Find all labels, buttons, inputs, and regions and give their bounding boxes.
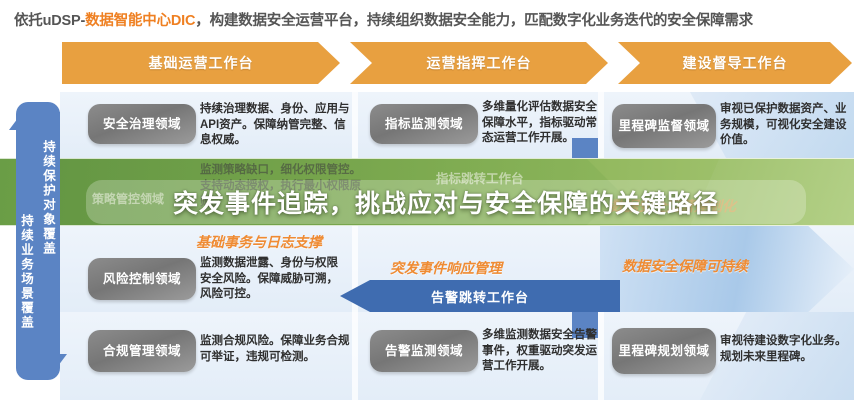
callout-sustainable-assurance: 数据安全保障可持续 bbox=[622, 256, 748, 276]
domain-card-alert-monitoring[interactable]: 告警监测领域 bbox=[370, 330, 478, 372]
callout-incident-response: 突发事件响应管理 bbox=[390, 258, 502, 278]
arrow-head-up-icon bbox=[9, 106, 45, 130]
headline-accent: 数据智能中心DIC bbox=[85, 9, 195, 30]
arrow-label-business-coverage: 持续业务场景覆盖 bbox=[17, 214, 36, 330]
domain-card-milestone-planning[interactable]: 里程碑规划领域 bbox=[612, 328, 716, 374]
coverage-arrows: 持续保护对象覆盖 持续业务场景覆盖 bbox=[4, 96, 60, 400]
headline-prefix: 依托uDSP- bbox=[14, 9, 85, 30]
domain-card-compliance-management[interactable]: 合规管理领域 bbox=[88, 330, 196, 372]
overlay-title: 突发事件追踪，挑战应对与安全保障的关键路径 bbox=[86, 180, 806, 224]
alert-jump-arrow[interactable]: 告警跳转工作台 bbox=[340, 280, 620, 312]
domain-card-milestone-supervision[interactable]: 里程碑监督领域 bbox=[612, 104, 716, 148]
page-title: 依托uDSP-数据智能中心DIC，构建数据安全运营平台，持续组织数据安全能力，匹… bbox=[14, 6, 844, 32]
divider-bot-1 bbox=[352, 312, 358, 400]
arrow-label-protection-coverage: 持续保护对象覆盖 bbox=[39, 140, 58, 256]
domain-desc-risk-control: 监测数据泄露、身份与权限安全风险。保障威胁可溯，风险可控。 bbox=[200, 256, 348, 303]
arrow-head-down-icon bbox=[31, 354, 67, 378]
domain-desc-metric-monitoring: 多维量化评估数据安全保障水平，指标驱动常态运营工作开展。 bbox=[482, 100, 600, 147]
green-band-bottom-edge bbox=[0, 225, 854, 226]
domain-card-compliance-label: 合规管理领域 bbox=[103, 343, 181, 359]
workbench-chevron-1[interactable]: 基础运营工作台 bbox=[62, 42, 340, 84]
domain-card-risk-control[interactable]: 风险控制领域 bbox=[88, 258, 196, 300]
domain-desc-milestone-supervision: 审视已保护数据资产、业务规模，可视化安全建设价值。 bbox=[720, 102, 848, 149]
domain-card-metric-monitoring[interactable]: 指标监测领域 bbox=[370, 104, 478, 144]
domain-desc-milestone-planning: 审视待建设数字化业务。规划未来里程碑。 bbox=[720, 334, 848, 365]
workbench-chevron-3[interactable]: 建设督导工作台 bbox=[618, 42, 852, 84]
domain-desc-security-governance: 持续治理数据、身份、应用与API资产。保障纳管完整、信息权威。 bbox=[200, 102, 350, 149]
infographic-canvas: 依托uDSP-数据智能中心DIC，构建数据安全运营平台，持续组织数据安全能力，匹… bbox=[0, 0, 854, 400]
workbench-row: 基础运营工作台 运营指挥工作台 建设督导工作台 bbox=[62, 42, 852, 86]
green-band-top-edge bbox=[0, 158, 854, 159]
domain-desc-alert-monitoring: 多维监测数据安全告警事件，权重驱动突发运营工作开展。 bbox=[482, 328, 600, 375]
domain-card-security-governance[interactable]: 安全治理领域 bbox=[88, 104, 196, 144]
domain-desc-compliance-management: 监测合规风险。保障业务合规可举证，违规可检测。 bbox=[200, 334, 350, 365]
workbench-chevron-2[interactable]: 运营指挥工作台 bbox=[350, 42, 608, 84]
headline-suffix: ，构建数据安全运营平台，持续组织数据安全能力，匹配数字化业务迭代的安全保障需求 bbox=[195, 9, 753, 30]
divider-top-1 bbox=[352, 92, 358, 158]
callout-foundation-support: 基础事务与日志支撑 bbox=[196, 232, 322, 252]
